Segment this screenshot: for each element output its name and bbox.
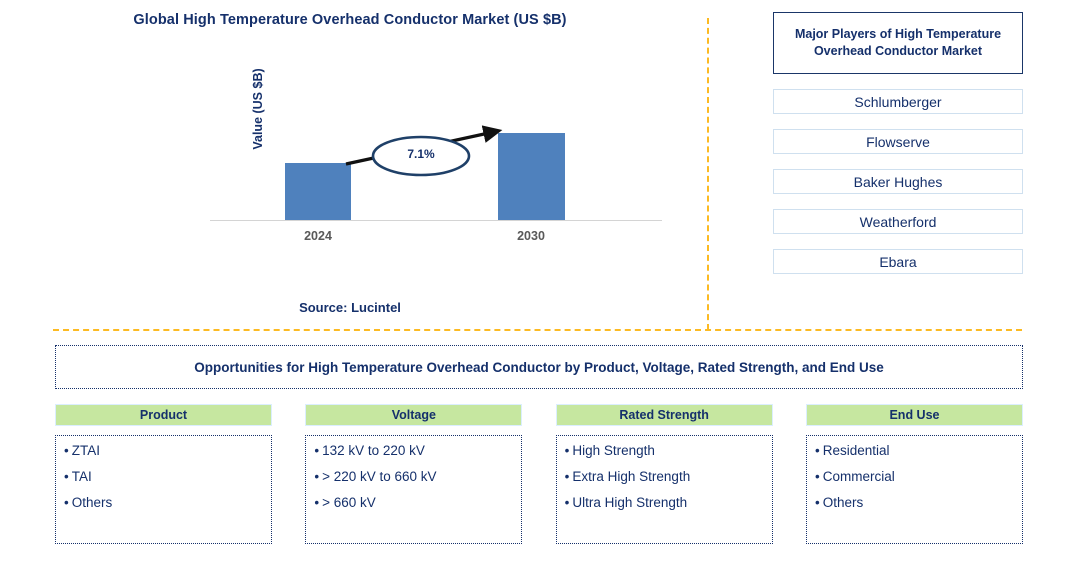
- bullet-icon: •: [314, 444, 319, 459]
- category-column-rated-strength: Rated Strength •High Strength •Extra Hig…: [556, 404, 773, 544]
- cagr-value-label: 7.1%: [373, 147, 469, 161]
- player-label: Flowserve: [866, 134, 930, 150]
- player-label: Schlumberger: [854, 94, 941, 110]
- bullet-icon: •: [314, 496, 319, 511]
- category-column-end-use: End Use •Residential •Commercial •Others: [806, 404, 1023, 544]
- major-players-panel: Major Players of High Temperature Overhe…: [773, 12, 1023, 274]
- list-item: •High Strength: [565, 444, 764, 459]
- list-item: •132 kV to 220 kV: [314, 444, 513, 459]
- bullet-icon: •: [565, 496, 570, 511]
- x-axis-line: [210, 220, 662, 221]
- source-label: Source: Lucintel: [0, 300, 700, 315]
- list-item: •Extra High Strength: [565, 470, 764, 485]
- bullet-icon: •: [64, 444, 69, 459]
- category-body-voltage: •132 kV to 220 kV •> 220 kV to 660 kV •>…: [305, 435, 522, 544]
- category-body-end-use: •Residential •Commercial •Others: [806, 435, 1023, 544]
- x-tick-label-2030: 2030: [486, 229, 576, 243]
- category-column-product: Product •ZTAI •TAI •Others: [55, 404, 272, 544]
- player-item-baker-hughes[interactable]: Baker Hughes: [773, 169, 1023, 194]
- bullet-icon: •: [565, 470, 570, 485]
- bullet-icon: •: [815, 444, 820, 459]
- list-item: •Commercial: [815, 470, 1014, 485]
- list-item-label: Others: [72, 495, 113, 510]
- list-item-label: Others: [823, 495, 864, 510]
- list-item-label: Ultra High Strength: [572, 495, 687, 510]
- category-header-voltage: Voltage: [305, 404, 522, 426]
- list-item-label: Commercial: [823, 469, 895, 484]
- bullet-icon: •: [64, 496, 69, 511]
- chart-plot-area: Value (US $B) 2024 2030 7.1%: [0, 0, 708, 300]
- list-item-label: Extra High Strength: [572, 469, 690, 484]
- player-label: Ebara: [879, 254, 916, 270]
- player-item-schlumberger[interactable]: Schlumberger: [773, 89, 1023, 114]
- list-item: •Others: [815, 496, 1014, 511]
- category-column-voltage: Voltage •132 kV to 220 kV •> 220 kV to 6…: [305, 404, 522, 544]
- list-item: •ZTAI: [64, 444, 263, 459]
- major-players-title: Major Players of High Temperature Overhe…: [773, 12, 1023, 74]
- player-item-weatherford[interactable]: Weatherford: [773, 209, 1023, 234]
- list-item-label: ZTAI: [72, 443, 100, 458]
- player-label: Weatherford: [860, 214, 937, 230]
- horizontal-divider: [53, 329, 1022, 331]
- list-item-label: TAI: [72, 469, 92, 484]
- opportunity-categories-row: Product •ZTAI •TAI •Others Voltage •132 …: [55, 404, 1023, 544]
- market-chart-panel: Global High Temperature Overhead Conduct…: [0, 0, 708, 330]
- category-header-rated-strength: Rated Strength: [556, 404, 773, 426]
- list-item: •TAI: [64, 470, 263, 485]
- list-item-label: High Strength: [572, 443, 655, 458]
- list-item: •> 660 kV: [314, 496, 513, 511]
- x-tick-label-2024: 2024: [273, 229, 363, 243]
- list-item: •Residential: [815, 444, 1014, 459]
- bullet-icon: •: [314, 470, 319, 485]
- list-item-label: > 220 kV to 660 kV: [322, 469, 436, 484]
- y-axis-label: Value (US $B): [251, 44, 269, 174]
- opportunities-banner: Opportunities for High Temperature Overh…: [55, 345, 1023, 389]
- infographic-root: Global High Temperature Overhead Conduct…: [0, 0, 1070, 583]
- bullet-icon: •: [815, 496, 820, 511]
- list-item: •Ultra High Strength: [565, 496, 764, 511]
- vertical-divider: [707, 18, 709, 330]
- bullet-icon: •: [565, 444, 570, 459]
- bullet-icon: •: [815, 470, 820, 485]
- player-item-ebara[interactable]: Ebara: [773, 249, 1023, 274]
- bullet-icon: •: [64, 470, 69, 485]
- list-item-label: > 660 kV: [322, 495, 376, 510]
- category-header-product: Product: [55, 404, 272, 426]
- category-body-rated-strength: •High Strength •Extra High Strength •Ult…: [556, 435, 773, 544]
- player-item-flowserve[interactable]: Flowserve: [773, 129, 1023, 154]
- category-body-product: •ZTAI •TAI •Others: [55, 435, 272, 544]
- player-label: Baker Hughes: [854, 174, 943, 190]
- list-item: •> 220 kV to 660 kV: [314, 470, 513, 485]
- list-item-label: Residential: [823, 443, 890, 458]
- category-header-end-use: End Use: [806, 404, 1023, 426]
- list-item: •Others: [64, 496, 263, 511]
- list-item-label: 132 kV to 220 kV: [322, 443, 425, 458]
